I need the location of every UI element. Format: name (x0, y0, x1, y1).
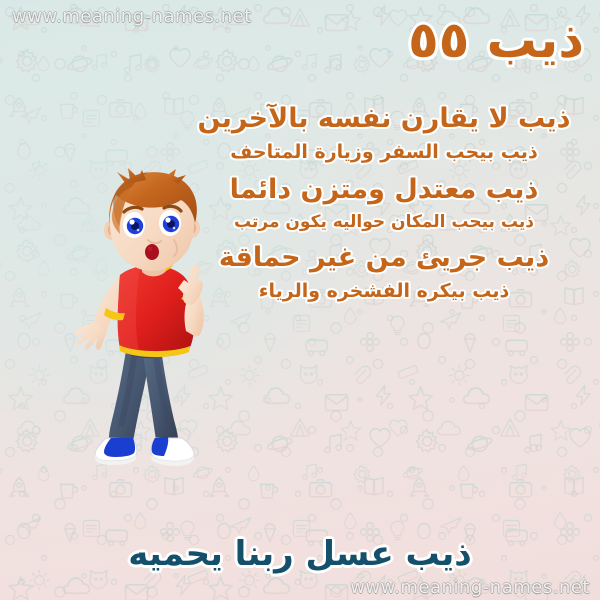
trait-line-2: ذيب بيحب السفر وزيارة المتاحف (174, 142, 594, 163)
trait-line-1: ذيب لا يقارن نفسه بالآخرين (174, 104, 594, 133)
boy-eye-left (123, 212, 145, 238)
trait-line-3: ذيب معتدل ومتزن دائما (174, 175, 594, 204)
trait-line-6: ذيب بيكره الفشخره والرياء (174, 281, 594, 302)
boy-shoes (95, 437, 194, 466)
name-meaning-card: www.meaning-names.net ذيب ٥٥ (0, 0, 600, 600)
blessing-line: ذيب عسل ربنا يحميه (0, 534, 600, 574)
page-title: ذيب ٥٥ (408, 14, 584, 67)
watermark-bottom: www.meaning-names.net (350, 577, 590, 598)
trait-list: ذيب لا يقارن نفسه بالآخرين ذيب بيحب السف… (174, 104, 594, 314)
trait-line-5: ذيب جريئ من غير حماقة (174, 243, 594, 272)
watermark-top: www.meaning-names.net (12, 6, 252, 27)
trait-line-4: ذيب بيحب المكان حواليه يكون مرتب (174, 213, 594, 231)
boy-mouth (145, 244, 159, 260)
